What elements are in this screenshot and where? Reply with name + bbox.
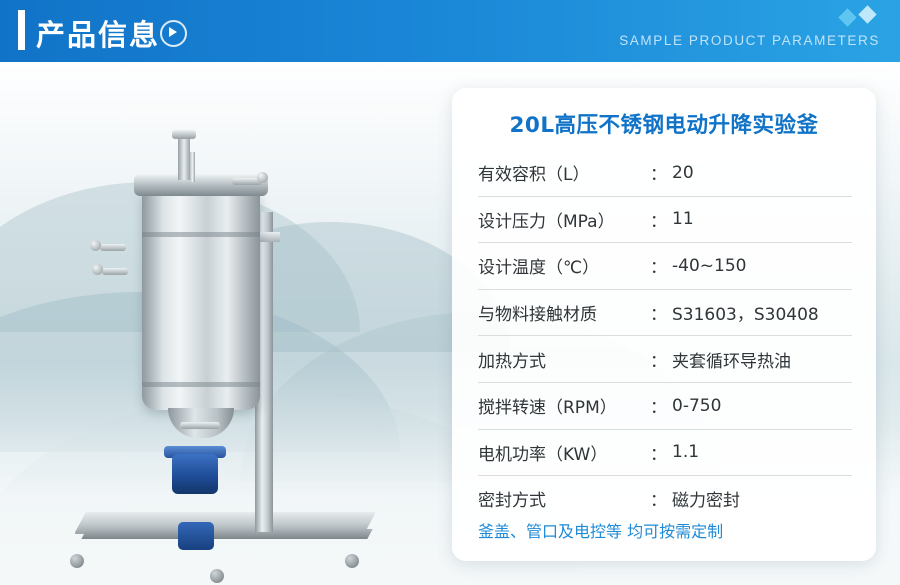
spec-separator: ： bbox=[650, 486, 672, 511]
spec-label: 搅拌转速（RPM） bbox=[478, 393, 650, 418]
spec-label: 电机功率（KW） bbox=[478, 440, 650, 465]
spec-value: 0-750 bbox=[672, 396, 852, 416]
table-row: 有效容积（L） ： 20 bbox=[478, 150, 852, 197]
reactor-equipment-illustration bbox=[60, 82, 400, 582]
valve-knob bbox=[92, 264, 103, 275]
table-row: 密封方式 ： 磁力密封 bbox=[478, 476, 852, 522]
spec-separator: ： bbox=[650, 440, 672, 465]
spec-value: S31603，S30408 bbox=[672, 300, 852, 325]
spec-value: 磁力密封 bbox=[672, 486, 852, 511]
vent-stack bbox=[178, 138, 190, 180]
spec-table: 有效容积（L） ： 20 设计压力（MPa） ： 11 设计温度（℃） ： -4… bbox=[478, 150, 852, 522]
play-circle-icon[interactable] bbox=[160, 20, 187, 47]
diamond-decoration bbox=[820, 8, 880, 28]
lift-motor bbox=[178, 522, 214, 550]
diamond-icon-1 bbox=[838, 8, 856, 26]
vessel-band bbox=[142, 232, 260, 237]
page-title: 产品信息 bbox=[36, 12, 160, 54]
header-accent-bar bbox=[18, 10, 25, 50]
reactor-vessel bbox=[142, 190, 260, 410]
drive-motor bbox=[172, 454, 218, 494]
spec-card: 20L高压不锈钢电动升降实验釜 有效容积（L） ： 20 设计压力（MPa） ：… bbox=[452, 88, 876, 561]
table-row: 设计温度（℃） ： -40~150 bbox=[478, 243, 852, 290]
caster-wheel bbox=[70, 554, 84, 568]
spec-separator: ： bbox=[650, 347, 672, 372]
spec-value: -40~150 bbox=[672, 256, 852, 276]
valve bbox=[102, 268, 128, 275]
header-subtitle: SAMPLE PRODUCT PARAMETERS bbox=[619, 33, 880, 48]
base-plate-edge bbox=[81, 529, 372, 539]
product-info-page: 产品信息 SAMPLE PRODUCT PARAMETERS bbox=[0, 0, 900, 585]
spec-label: 有效容积（L） bbox=[478, 160, 650, 185]
spec-value: 夹套循环导热油 bbox=[672, 347, 852, 372]
spec-value: 1.1 bbox=[672, 442, 852, 462]
spec-separator: ： bbox=[650, 160, 672, 185]
table-row: 设计压力（MPa） ： 11 bbox=[478, 197, 852, 244]
spec-label: 加热方式 bbox=[478, 347, 650, 372]
valve bbox=[180, 422, 220, 429]
valve bbox=[100, 244, 126, 251]
spec-label: 密封方式 bbox=[478, 486, 650, 511]
spec-separator: ： bbox=[650, 253, 672, 278]
stirrer-shaft bbox=[190, 152, 195, 182]
table-row: 电机功率（KW） ： 1.1 bbox=[478, 430, 852, 477]
spec-value: 11 bbox=[672, 209, 852, 229]
product-name: 20L高压不锈钢电动升降实验釜 bbox=[452, 108, 876, 139]
spec-separator: ： bbox=[650, 300, 672, 325]
table-row: 搅拌转速（RPM） ： 0-750 bbox=[478, 383, 852, 430]
spec-value: 20 bbox=[672, 163, 852, 183]
caster-wheel bbox=[210, 569, 224, 583]
table-row: 与物料接触材质 ： S31603，S30408 bbox=[478, 290, 852, 337]
caster-wheel bbox=[345, 554, 359, 568]
spec-label: 与物料接触材质 bbox=[478, 300, 650, 325]
valve-knob bbox=[257, 172, 268, 183]
diamond-icon-2 bbox=[858, 5, 876, 23]
spec-separator: ： bbox=[650, 393, 672, 418]
table-row: 加热方式 ： 夹套循环导热油 bbox=[478, 336, 852, 383]
vent-stack-cap bbox=[172, 130, 196, 139]
vessel-band bbox=[142, 382, 260, 387]
spec-label: 设计温度（℃） bbox=[478, 253, 650, 278]
page-header: 产品信息 SAMPLE PRODUCT PARAMETERS bbox=[0, 0, 900, 62]
spec-separator: ： bbox=[650, 207, 672, 232]
valve-knob bbox=[90, 240, 101, 251]
customization-note: 釜盖、管口及电控等 均可按需定制 bbox=[478, 518, 723, 542]
spec-label: 设计压力（MPa） bbox=[478, 207, 650, 232]
